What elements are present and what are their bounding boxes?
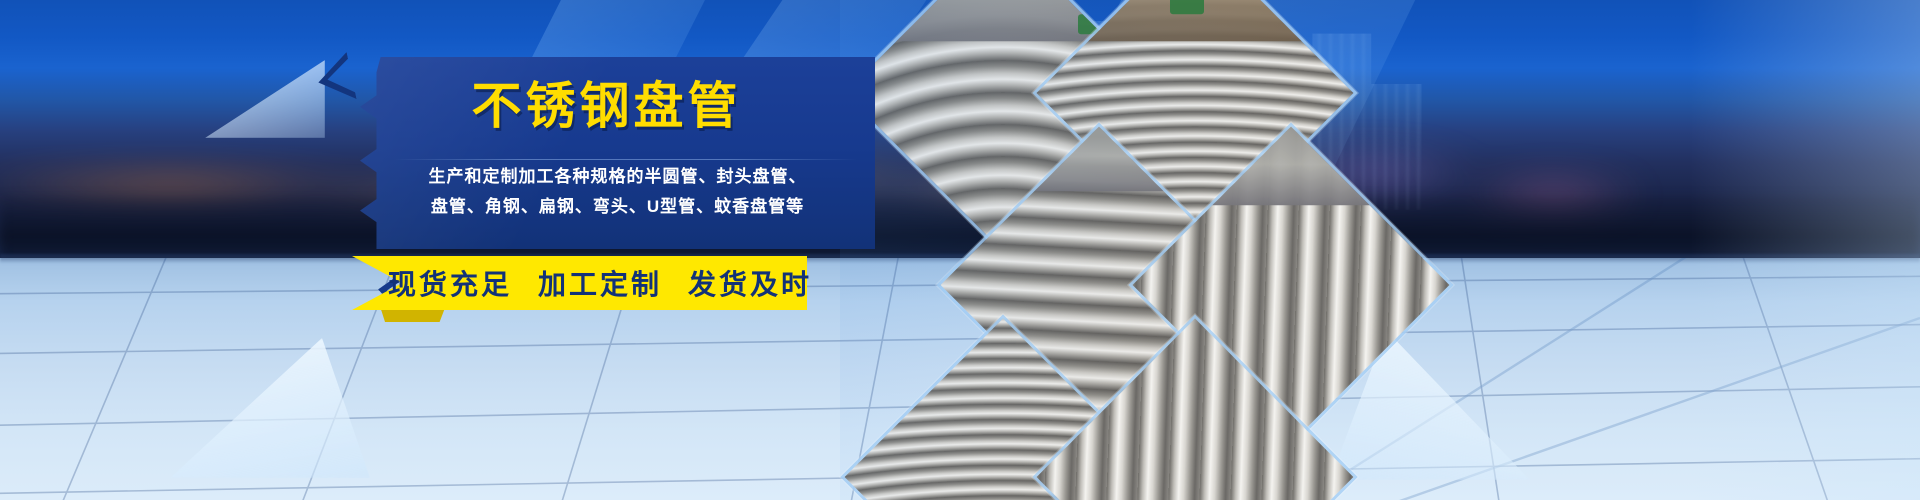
subtitle-line-1: 生产和定制加工各种规格的半圆管、封头盘管、 [376, 162, 859, 192]
feature-ribbon: 现货充足 加工定制 发货及时 [352, 256, 812, 320]
ribbon-text-row: 现货充足 加工定制 发货及时 [402, 256, 798, 310]
panel-divider [394, 159, 857, 160]
page-title: 不锈钢盘管 [360, 77, 853, 135]
headline-panel: 不锈钢盘管 生产和定制加工各种规格的半圆管、封头盘管、 盘管、角钢、扁钢、弯头、… [360, 57, 875, 249]
green-marker [1170, 0, 1204, 14]
coil-photo-mosaic [840, 0, 1480, 500]
ribbon-item-shipping: 发货及时 [688, 263, 812, 303]
subtitle-line-2: 盘管、角钢、扁钢、弯头、U型管、蚊香盘管等 [376, 192, 859, 222]
product-hero-banner: 不锈钢盘管 生产和定制加工各种规格的半圆管、封头盘管、 盘管、角钢、扁钢、弯头、… [0, 0, 1920, 500]
ribbon-item-stock: 现货充足 [388, 263, 512, 303]
ribbon-item-custom: 加工定制 [538, 263, 662, 303]
